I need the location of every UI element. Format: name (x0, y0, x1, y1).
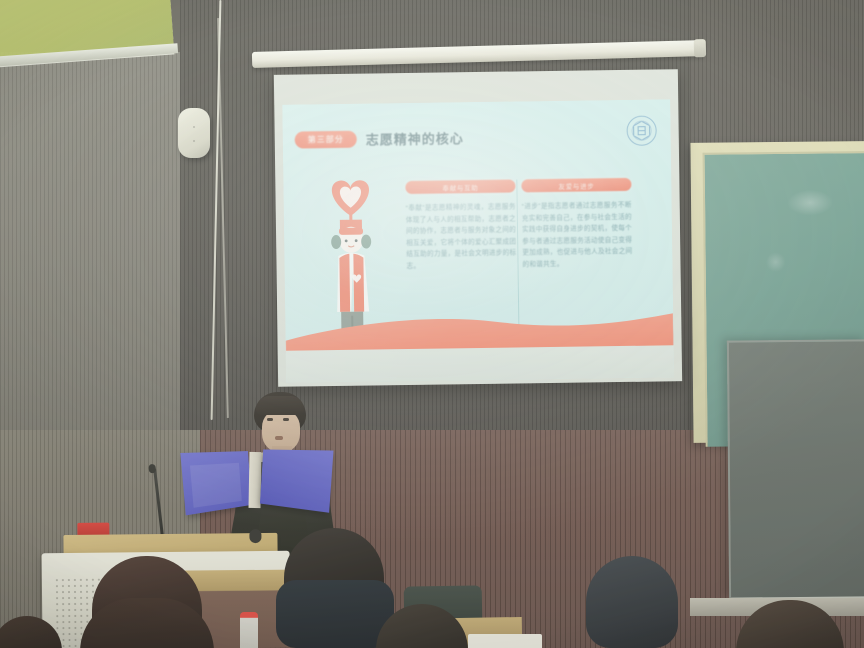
wall-mounted-flat-display[interactable] (727, 339, 864, 598)
lecture-hall-photo: 第三部分 志愿精神的核心 (0, 0, 864, 648)
slide-column-left: 奉献与互助 “奉献”是志愿精神的灵魂，志愿服务体现了人与人的相互帮助，志愿者之间… (405, 179, 516, 272)
presenter-eye (283, 418, 289, 421)
slide-column-right: 友爱与进步 “进步”是指志愿者通过志愿服务不断充实和完善自己，在参与社会生活的实… (521, 178, 632, 271)
chalk-smudge (766, 252, 786, 272)
university-emblem-icon (626, 115, 656, 145)
paper-sheet (468, 634, 542, 648)
presentation-slide: 第三部分 志愿精神的核心 (282, 99, 674, 382)
column-body: “进步”是指志愿者通过志愿服务不断充实和完善自己，在参与社会生活的实践中获得自身… (522, 200, 633, 271)
slide-floor-band (286, 345, 674, 382)
wall-speaker (178, 108, 210, 158)
audience-head (586, 556, 678, 648)
column-divider (516, 179, 519, 324)
slide-section-badge: 第三部分 (295, 131, 357, 149)
projection-screen: 第三部分 志愿精神的核心 (274, 69, 682, 387)
column-header: 奉献与互助 (405, 179, 515, 194)
column-body: “奉献”是志愿精神的灵魂，志愿服务体现了人与人的相互帮助，志愿者之间的协作，志愿… (406, 201, 517, 272)
presenter-mouth (275, 436, 283, 440)
slide-title: 志愿精神的核心 (366, 128, 464, 148)
lectern-control-knob[interactable] (249, 529, 261, 543)
speaker-dot (193, 126, 195, 128)
water-bottle (240, 612, 258, 648)
column-header: 友爱与进步 (521, 178, 631, 193)
chalk-smudge (787, 189, 833, 215)
presenter-fringe (256, 396, 304, 415)
audience-head (284, 528, 384, 618)
speaker-dot (193, 140, 195, 142)
projected-slide-area: 第三部分 志愿精神的核心 (282, 99, 674, 382)
roller-end-cap (694, 39, 706, 57)
presenter-eye (267, 418, 273, 421)
slide-header: 第三部分 志愿精神的核心 (295, 128, 464, 149)
